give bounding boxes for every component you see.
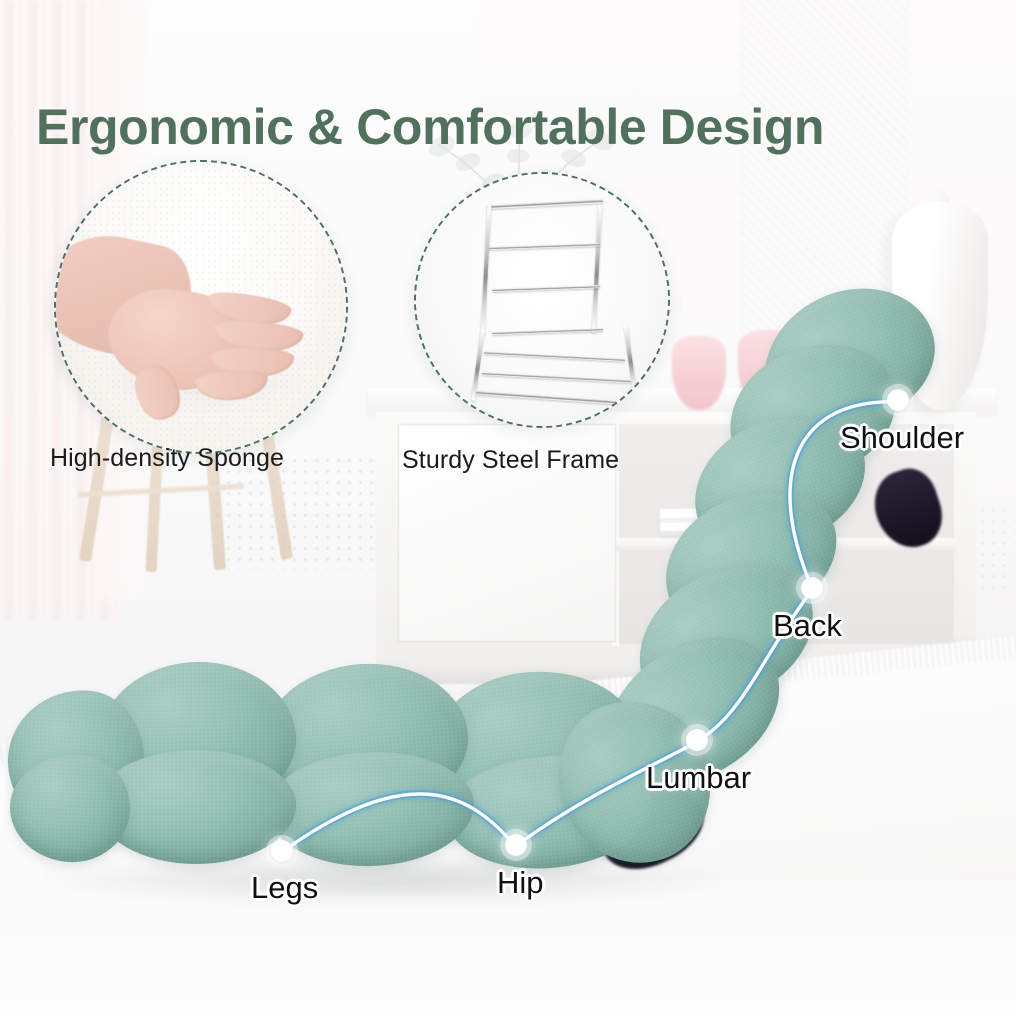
callout-label-legs: Legs — [251, 870, 318, 906]
callout-label-shoulder: Shoulder — [840, 420, 964, 456]
steel-frame-backdrop — [416, 174, 668, 426]
callout-label-hip: Hip — [497, 865, 544, 901]
callout-dot-legs[interactable] — [271, 840, 293, 862]
callout-dot-hip[interactable] — [505, 834, 527, 856]
callout-label-lumbar: Lumbar — [646, 760, 751, 796]
callout-dot-lumbar[interactable] — [686, 729, 708, 751]
feature-circle-high-density-sponge — [54, 160, 348, 454]
callout-label-back: Back — [773, 608, 842, 644]
sofa-underside — [866, 462, 951, 556]
callout-dot-back[interactable] — [801, 577, 823, 599]
feature-caption-sturdy-steel-frame: Sturdy Steel Frame — [402, 446, 619, 475]
feature-caption-high-density-sponge: High-density Sponge — [50, 444, 284, 473]
feature-circle-sturdy-steel-frame — [414, 172, 670, 428]
callout-dot-shoulder[interactable] — [887, 389, 909, 411]
product-infographic: Ergonomic & Comfortable Design High-dens… — [0, 0, 1016, 1016]
page-title: Ergonomic & Comfortable Design — [36, 98, 824, 156]
